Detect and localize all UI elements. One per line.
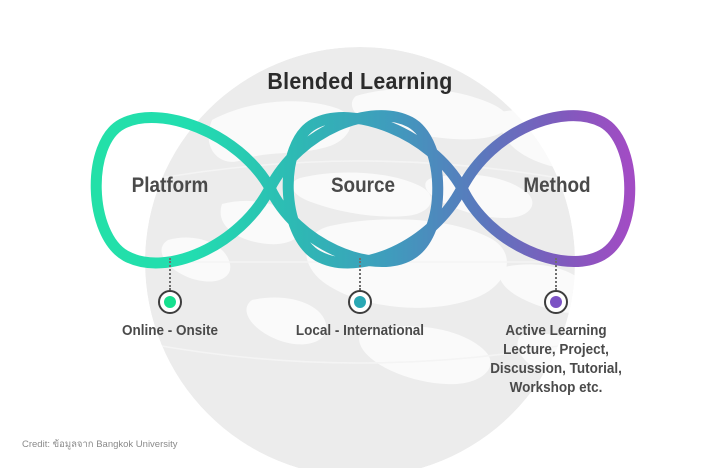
- node-marker-platform: [158, 290, 182, 314]
- node-caption-source: Local - International: [267, 322, 453, 341]
- node-marker-method: [544, 290, 568, 314]
- connector-line: [359, 258, 361, 290]
- caption-line: Discussion, Tutorial,: [463, 360, 649, 379]
- caption-line: Local - International: [267, 322, 453, 341]
- caption-line: Workshop etc.: [463, 379, 649, 398]
- caption-line: Online - Onsite: [77, 322, 263, 341]
- connector-line: [555, 258, 557, 290]
- caption-line: Active Learning: [463, 322, 649, 341]
- page-title: Blended Learning: [25, 68, 695, 95]
- node-marker-source: [348, 290, 372, 314]
- node-dot: [354, 296, 366, 308]
- loop-label-platform: Platform: [103, 174, 238, 198]
- node-caption-platform: Online - Onsite: [77, 322, 263, 341]
- credit-text: Credit: ข้อมูลจาก Bangkok University: [22, 437, 178, 452]
- node-dot: [550, 296, 562, 308]
- node-caption-method: Active Learning Lecture, Project, Discus…: [463, 322, 649, 398]
- node-dot: [164, 296, 176, 308]
- loop-label-method: Method: [490, 174, 625, 198]
- caption-line: Lecture, Project,: [463, 341, 649, 360]
- infographic-canvas: Blended Learning Platform Source Method …: [0, 0, 720, 468]
- connector-line: [169, 258, 171, 290]
- loop-label-source: Source: [297, 174, 428, 198]
